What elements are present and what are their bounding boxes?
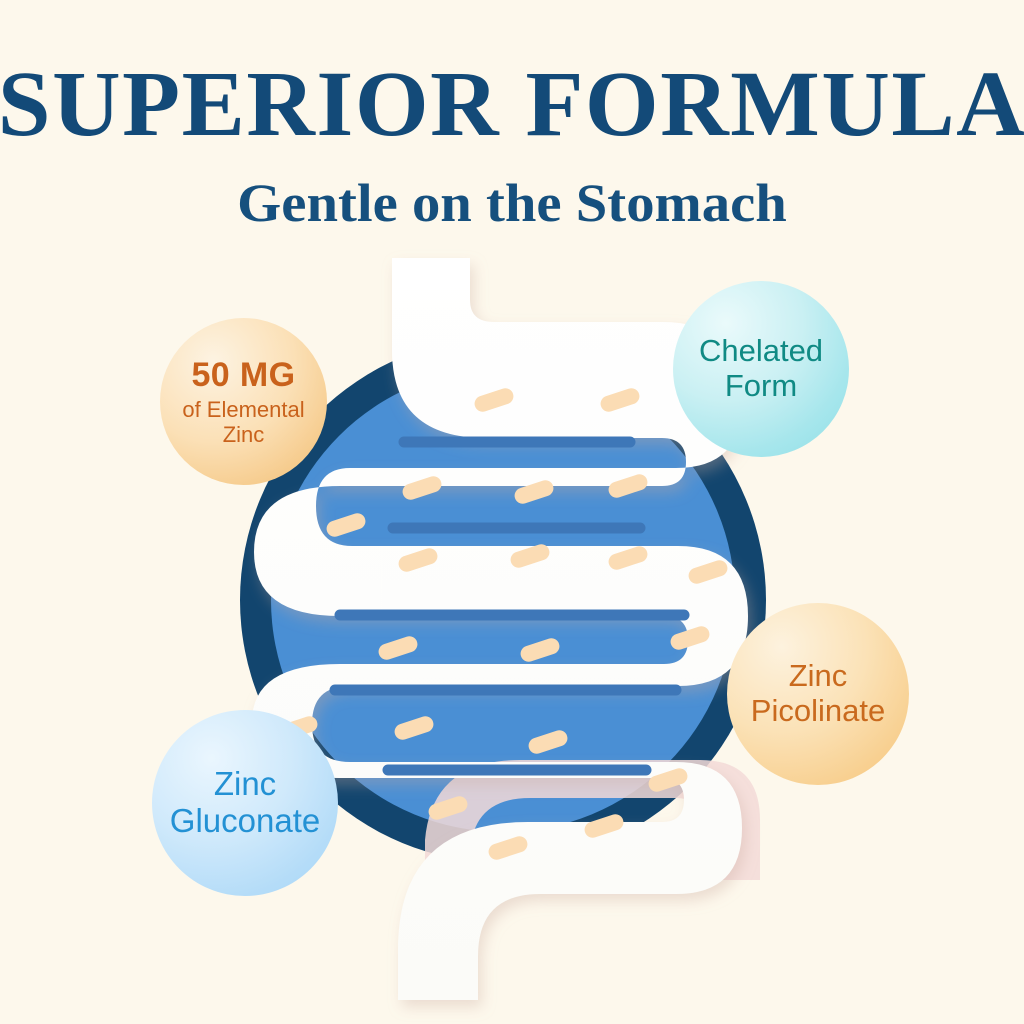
- badge-chelated-line2: Form: [725, 369, 797, 404]
- poster-canvas: SUPERIOR FORMULA Gentle on the Stomach 5…: [0, 0, 1024, 1024]
- badge-gluconate-line1: Zinc: [214, 766, 276, 803]
- badge-chelated-form[interactable]: Chelated Form: [673, 281, 849, 457]
- badge-zinc-picolinate[interactable]: Zinc Picolinate: [727, 603, 909, 785]
- badge-chelated-line1: Chelated: [699, 334, 823, 369]
- badge-dose-line3: Zinc: [223, 423, 265, 448]
- badge-dose-line2: of Elemental: [182, 398, 304, 423]
- badge-picolinate-line1: Zinc: [789, 659, 848, 694]
- badge-picolinate-line2: Picolinate: [751, 694, 885, 729]
- badge-dose-amount: 50 MG: [191, 356, 295, 394]
- badge-zinc-gluconate[interactable]: Zinc Gluconate: [152, 710, 338, 896]
- badge-gluconate-line2: Gluconate: [170, 803, 320, 840]
- intestine-illustration: [0, 0, 1024, 1024]
- badge-elemental-zinc-dose[interactable]: 50 MG of Elemental Zinc: [160, 318, 327, 485]
